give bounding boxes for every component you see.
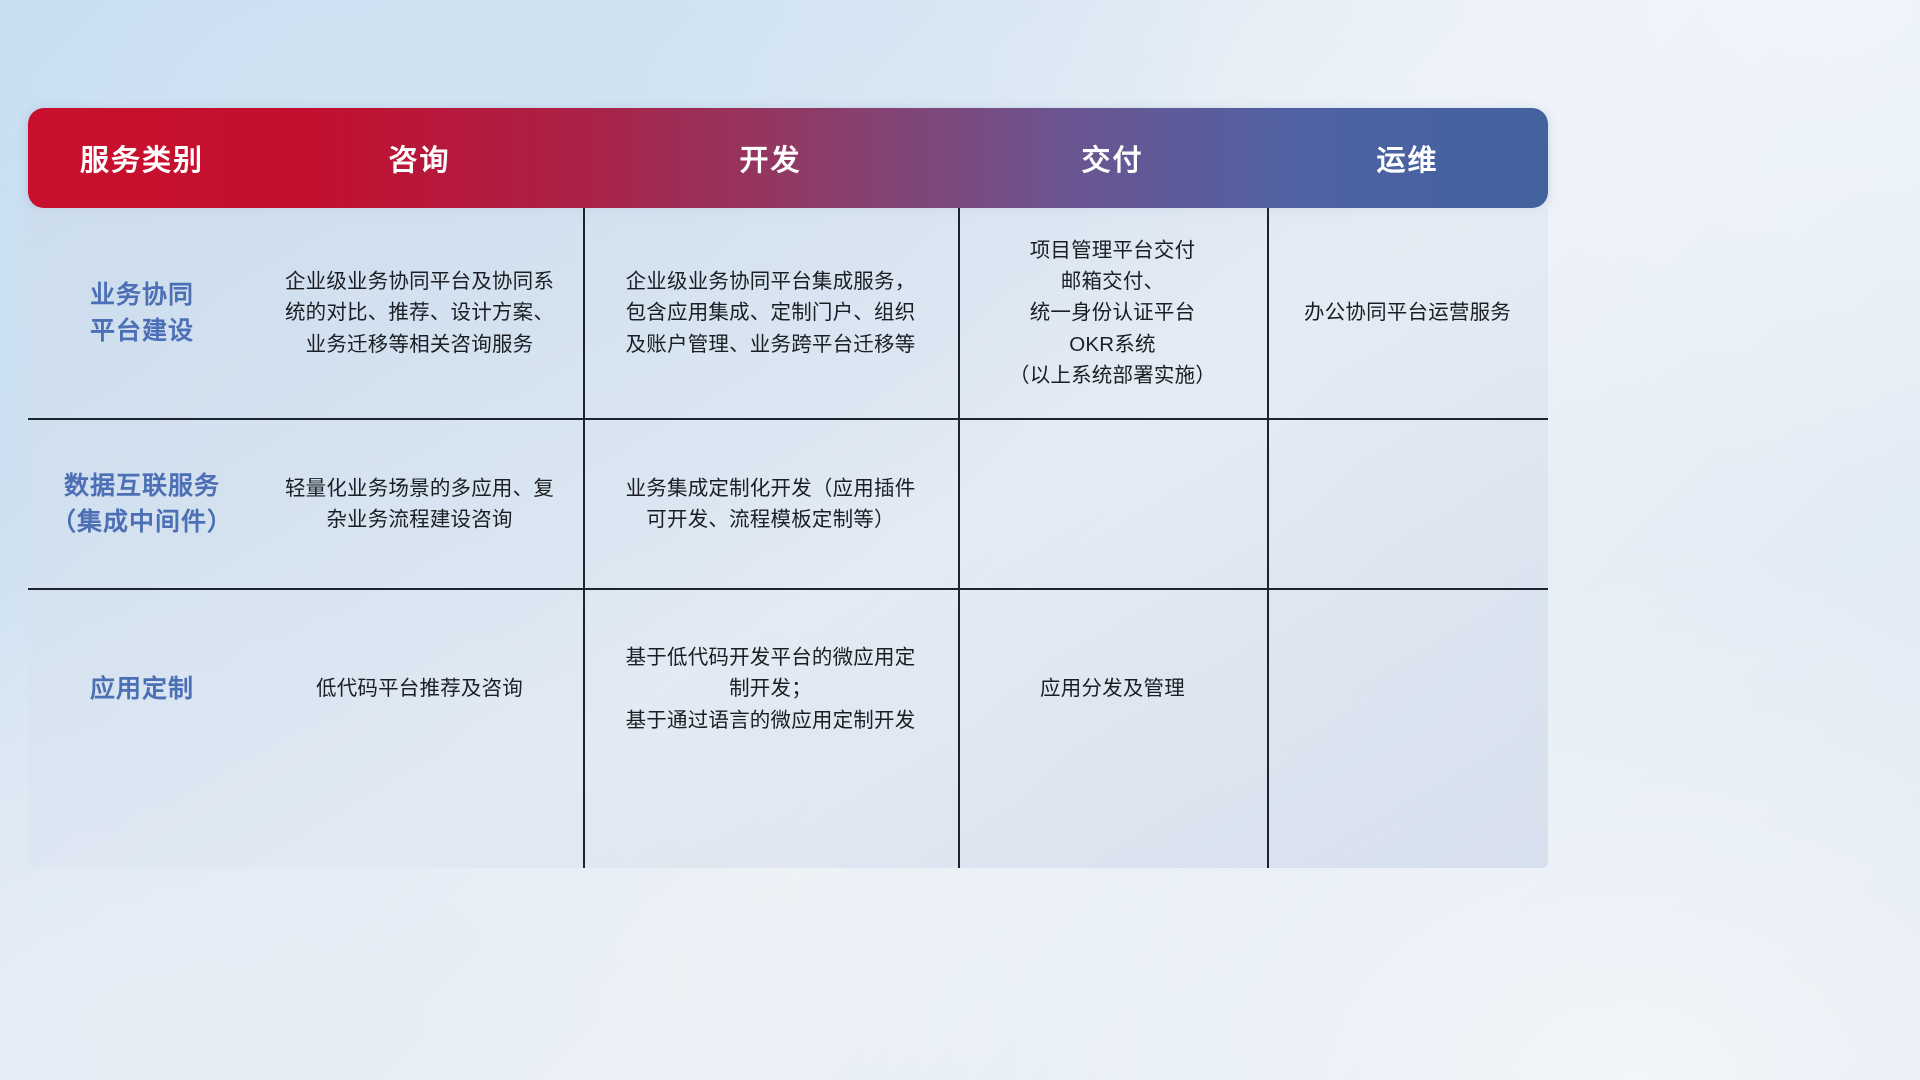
row-label: 业务协同 平台建设 xyxy=(90,277,194,350)
cell-development: 业务集成定制化开发（应用插件 可开发、流程模板定制等） xyxy=(583,420,958,588)
cell-development: 企业级业务协同平台集成服务， 包含应用集成、定制门户、组织 及账户管理、业务跨平… xyxy=(583,208,958,418)
column-header-category: 服务类别 xyxy=(28,137,256,179)
cell-operations: 办公协同平台运营服务 xyxy=(1267,208,1548,418)
cell-text: 办公协同平台运营服务 xyxy=(1304,297,1511,328)
row-label-cell: 应用定制 xyxy=(28,590,256,788)
cell-delivery xyxy=(958,420,1267,588)
table-row: 业务协同 平台建设 企业级业务协同平台及协同系 统的对比、推荐、设计方案、 业务… xyxy=(28,208,1548,418)
cell-text: 轻量化业务场景的多应用、复 杂业务流程建设咨询 xyxy=(285,473,554,535)
table-row: 应用定制 低代码平台推荐及咨询 基于低代码开发平台的微应用定 制开发； 基于通过… xyxy=(28,588,1548,788)
service-category-table: 服务类别 咨询 开发 交付 运维 业务协同 平台建设 企业级业务协同平台及协同系… xyxy=(28,108,1548,968)
cell-text: 低代码平台推荐及咨询 xyxy=(316,673,523,704)
slide-canvas: 服务类别 咨询 开发 交付 运维 业务协同 平台建设 企业级业务协同平台及协同系… xyxy=(0,0,1920,1080)
row-label: 应用定制 xyxy=(90,671,194,707)
table-row: 数据互联服务 （集成中间件） 轻量化业务场景的多应用、复 杂业务流程建设咨询 业… xyxy=(28,418,1548,588)
cell-text: 企业级业务协同平台及协同系 统的对比、推荐、设计方案、 业务迁移等相关咨询服务 xyxy=(285,266,554,359)
cell-development: 基于低代码开发平台的微应用定 制开发； 基于通过语言的微应用定制开发 xyxy=(583,590,958,788)
column-header-operations: 运维 xyxy=(1267,137,1548,179)
cell-text: 基于低代码开发平台的微应用定 制开发； 基于通过语言的微应用定制开发 xyxy=(626,642,916,735)
cell-operations xyxy=(1267,590,1548,788)
column-header-development: 开发 xyxy=(583,137,958,179)
cell-delivery: 应用分发及管理 xyxy=(958,590,1267,788)
row-label: 数据互联服务 （集成中间件） xyxy=(51,468,233,541)
cell-consulting: 低代码平台推荐及咨询 xyxy=(256,590,583,788)
row-label-cell: 业务协同 平台建设 xyxy=(28,208,256,418)
table-header-row: 服务类别 咨询 开发 交付 运维 xyxy=(28,108,1548,208)
cell-consulting: 企业级业务协同平台及协同系 统的对比、推荐、设计方案、 业务迁移等相关咨询服务 xyxy=(256,208,583,418)
cell-text: 业务集成定制化开发（应用插件 可开发、流程模板定制等） xyxy=(626,473,916,535)
cell-text: 企业级业务协同平台集成服务， 包含应用集成、定制门户、组织 及账户管理、业务跨平… xyxy=(626,266,916,359)
cell-delivery: 项目管理平台交付 邮箱交付、 统一身份认证平台 OKR系统 （以上系统部署实施） xyxy=(958,208,1267,418)
cell-consulting: 轻量化业务场景的多应用、复 杂业务流程建设咨询 xyxy=(256,420,583,588)
row-label-cell: 数据互联服务 （集成中间件） xyxy=(28,420,256,588)
cell-text: 应用分发及管理 xyxy=(1040,673,1185,704)
cell-text: 项目管理平台交付 邮箱交付、 统一身份认证平台 OKR系统 （以上系统部署实施） xyxy=(1009,235,1216,391)
column-header-delivery: 交付 xyxy=(958,137,1267,179)
column-header-consulting: 咨询 xyxy=(256,137,583,179)
table-body: 业务协同 平台建设 企业级业务协同平台及协同系 统的对比、推荐、设计方案、 业务… xyxy=(28,208,1548,868)
cell-operations xyxy=(1267,420,1548,588)
